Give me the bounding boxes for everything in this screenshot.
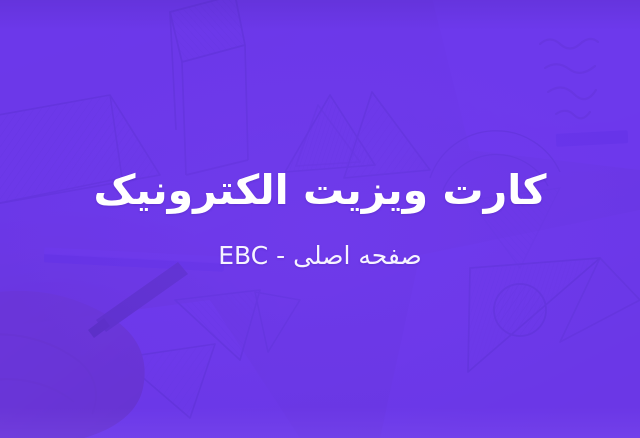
page-title: کارت ویزیت الکترونیک [94,166,547,214]
hero-banner: کارت ویزیت الکترونیک صفحه اصلی - EBC [0,0,640,438]
page-subtitle: صفحه اصلی - EBC [218,240,422,273]
hero-text-block: کارت ویزیت الکترونیک صفحه اصلی - EBC [0,0,640,438]
